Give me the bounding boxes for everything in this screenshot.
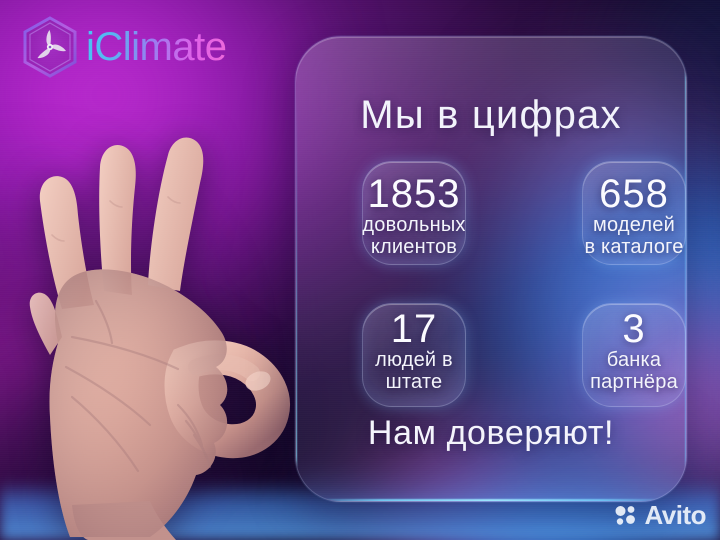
stat-text: 658 моделей в каталоге [550, 174, 687, 259]
page-title: Мы в цифрах [296, 93, 686, 138]
stat-text: 17 людей в штате [330, 309, 498, 394]
stat-value: 658 [550, 174, 687, 215]
stat-value: 17 [330, 309, 498, 350]
brand-logo: iClimate [18, 14, 232, 80]
avito-dots-icon [614, 503, 638, 527]
hand-illustration [0, 105, 330, 540]
stat-item-models: 658 моделей в каталоге [550, 153, 687, 279]
promo-image-canvas: iClimate [0, 0, 720, 540]
brand-name: iClimate [86, 27, 232, 67]
stat-label: банка партнёра [550, 350, 687, 393]
stat-label: моделей в каталоге [550, 215, 687, 258]
panel-footer-text: Нам доверяют! [296, 414, 686, 453]
stat-text: 3 банка партнёра [550, 309, 687, 394]
stat-value: 3 [550, 309, 687, 350]
stats-grid: 1853 довольных клиентов 658 моделей в ка… [330, 153, 652, 407]
stat-item-banks: 3 банка партнёра [550, 295, 687, 407]
hand-ok-gesture-photo [0, 105, 330, 540]
avito-watermark: Avito [614, 502, 706, 528]
avito-label: Avito [644, 502, 706, 528]
stat-item-staff: 17 людей в штате [330, 295, 498, 407]
stat-item-clients: 1853 довольных клиентов [330, 153, 498, 279]
glass-stats-panel: Мы в цифрах 1853 довольных клиентов 658 … [295, 36, 687, 502]
hexagon-fan-icon [18, 14, 82, 80]
stat-label: людей в штате [330, 350, 498, 393]
stat-text: 1853 довольных клиентов [330, 174, 498, 259]
stat-label: довольных клиентов [330, 215, 498, 258]
stat-value: 1853 [330, 174, 498, 215]
